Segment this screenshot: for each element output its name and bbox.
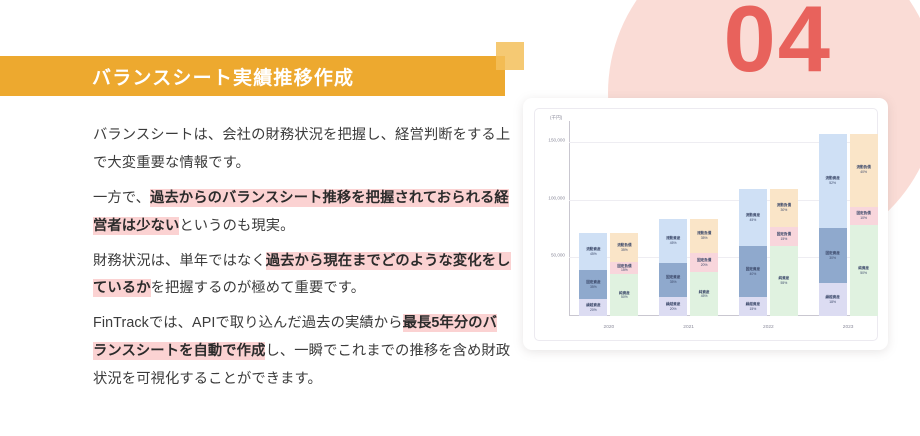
segment-percent: 45% (670, 241, 677, 245)
bar-segment[interactable]: 純資産50% (610, 274, 638, 316)
section-header: バランスシート実績推移作成 (0, 56, 505, 96)
chart-unit-label: (千円) (550, 115, 562, 121)
y-axis-tick-label: 50,000 (551, 253, 565, 258)
stacked-bar-liabilities[interactable]: 流動負債35%固定負債20%純資産45% (690, 125, 718, 316)
paragraph: バランスシートは、会社の財務状況を把握し、経営判断をする上で大変重要な情報です。 (93, 122, 511, 178)
bar-segment[interactable]: 繰越資産15% (739, 297, 767, 316)
text-run: 財務状況は、単年ではなく (93, 253, 266, 269)
bar-segment[interactable]: 繰越資産20% (579, 299, 607, 316)
stacked-bar-assets[interactable]: 流動資産52%固定資産30%繰越資産18% (819, 125, 847, 316)
stacked-bar-liabilities[interactable]: 流動負債35%固定負債15%純資産50% (610, 125, 638, 316)
bar-group[interactable]: 流動資産45%固定資産35%繰越資産20%流動負債35%固定負債20%純資産45… (649, 125, 729, 316)
text-run: 一方で、 (93, 190, 150, 206)
x-axis-tick-label: 2023 (808, 325, 888, 330)
x-axis-tick-label: 2020 (569, 325, 649, 330)
text-run: FinTrackでは、APIで取り込んだ過去の実績から (93, 315, 403, 331)
segment-percent: 45% (701, 294, 708, 298)
title-bar: バランスシート実績推移作成 (0, 56, 505, 96)
stacked-bar-assets[interactable]: 流動資産45%固定資産40%繰越資産15% (739, 125, 767, 316)
bar-segment[interactable]: 純資産45% (690, 272, 718, 316)
segment-percent: 15% (749, 307, 756, 311)
segment-percent: 35% (621, 248, 628, 252)
chart-plot: 50,000100,000150,000流動資産45%固定資産35%繰越資産20… (569, 125, 871, 316)
title-accent-square (496, 42, 524, 70)
bar-segment[interactable]: 繰越資産18% (819, 283, 847, 316)
segment-percent: 15% (780, 237, 787, 241)
paragraph: FinTrackでは、APIで取り込んだ過去の実績から最長5年分のバランスシート… (93, 310, 511, 394)
chart-inner: (千円) 50,000100,000150,000流動資産45%固定資産35%繰… (534, 108, 878, 341)
segment-percent: 20% (701, 263, 708, 267)
page-title: バランスシート実績推移作成 (92, 63, 354, 90)
bar-segment[interactable]: 流動資産45% (579, 233, 607, 270)
segment-percent: 50% (621, 295, 628, 299)
stacked-bar-assets[interactable]: 流動資産45%固定資産35%繰越資産20% (659, 125, 687, 316)
stacked-bar-assets[interactable]: 流動資産45%固定資産35%繰越資産20% (579, 125, 607, 316)
bar-segment[interactable]: 純資産55% (770, 246, 798, 316)
bar-segment[interactable]: 流動資産52% (819, 134, 847, 229)
text-run: バランスシートは、会社の財務状況を把握し、経営判断をする上で大変重要な情報です。 (93, 127, 510, 171)
bar-segment[interactable]: 流動負債35% (610, 233, 638, 262)
bar-segment[interactable]: 固定負債20% (690, 253, 718, 272)
x-axis-tick-label: 2021 (649, 325, 729, 330)
y-axis-tick-label: 100,000 (548, 195, 565, 200)
segment-percent: 50% (860, 271, 867, 275)
highlighted-text: 過去からのバランスシート推移を把握されておられる経営者は少ない (93, 189, 509, 235)
segment-percent: 18% (829, 300, 836, 304)
bar-segment[interactable]: 固定資産35% (659, 263, 687, 297)
segment-percent: 45% (590, 252, 597, 256)
bar-group[interactable]: 流動資産52%固定資産30%繰越資産18%流動負債40%固定負債10%純資産50… (808, 125, 888, 316)
bar-segment[interactable]: 固定負債10% (850, 207, 878, 225)
bar-segment[interactable]: 繰越資産20% (659, 297, 687, 316)
bar-segment[interactable]: 流動負債40% (850, 134, 878, 207)
x-axis-tick-label: 2022 (729, 325, 809, 330)
bar-segment[interactable]: 流動負債35% (690, 219, 718, 253)
bar-group[interactable]: 流動資産45%固定資産35%繰越資産20%流動負債35%固定負債15%純資産50… (569, 125, 649, 316)
segment-percent: 45% (749, 218, 756, 222)
bar-segment[interactable]: 流動資産45% (739, 189, 767, 246)
segment-percent: 15% (621, 268, 628, 272)
bar-segment[interactable]: 固定資産40% (739, 246, 767, 297)
body-copy: バランスシートは、会社の財務状況を把握し、経営判断をする上で大変重要な情報です。… (93, 122, 511, 401)
bar-segment[interactable]: 固定資産35% (579, 270, 607, 299)
text-run: というのも現実。 (179, 218, 294, 234)
y-axis-tick-label: 150,000 (548, 137, 565, 142)
segment-percent: 40% (860, 170, 867, 174)
section-number: 04 (723, 0, 832, 86)
segment-percent: 40% (749, 272, 756, 276)
segment-percent: 55% (780, 281, 787, 285)
segment-percent: 10% (860, 216, 867, 220)
text-run: を把握するのが極めて重要です。 (151, 280, 366, 296)
bar-segment[interactable]: 流動資産45% (659, 219, 687, 263)
bar-segment[interactable]: 固定負債15% (610, 262, 638, 274)
bar-segment[interactable]: 純資産50% (850, 225, 878, 316)
bar-group[interactable]: 流動資産45%固定資産40%繰越資産15%流動負債30%固定負債15%純資産55… (729, 125, 809, 316)
segment-percent: 35% (590, 285, 597, 289)
segment-percent: 20% (590, 308, 597, 312)
stacked-bar-liabilities[interactable]: 流動負債30%固定負債15%純資産55% (770, 125, 798, 316)
segment-percent: 30% (829, 256, 836, 260)
segment-percent: 52% (829, 181, 836, 185)
segment-percent: 35% (670, 280, 677, 284)
paragraph: 財務状況は、単年ではなく過去から現在までどのような変化をしているかを把握するのが… (93, 248, 511, 304)
bar-segment[interactable]: 流動負債30% (770, 189, 798, 227)
paragraph: 一方で、過去からのバランスシート推移を把握されておられる経営者は少ないというのも… (93, 185, 511, 241)
segment-percent: 20% (670, 307, 677, 311)
segment-percent: 30% (780, 208, 787, 212)
chart-card: (千円) 50,000100,000150,000流動資産45%固定資産35%繰… (523, 98, 888, 350)
segment-percent: 35% (701, 236, 708, 240)
bar-segment[interactable]: 固定資産30% (819, 228, 847, 283)
stacked-bar-liabilities[interactable]: 流動負債40%固定負債10%純資産50% (850, 125, 878, 316)
bar-segment[interactable]: 固定負債15% (770, 227, 798, 246)
